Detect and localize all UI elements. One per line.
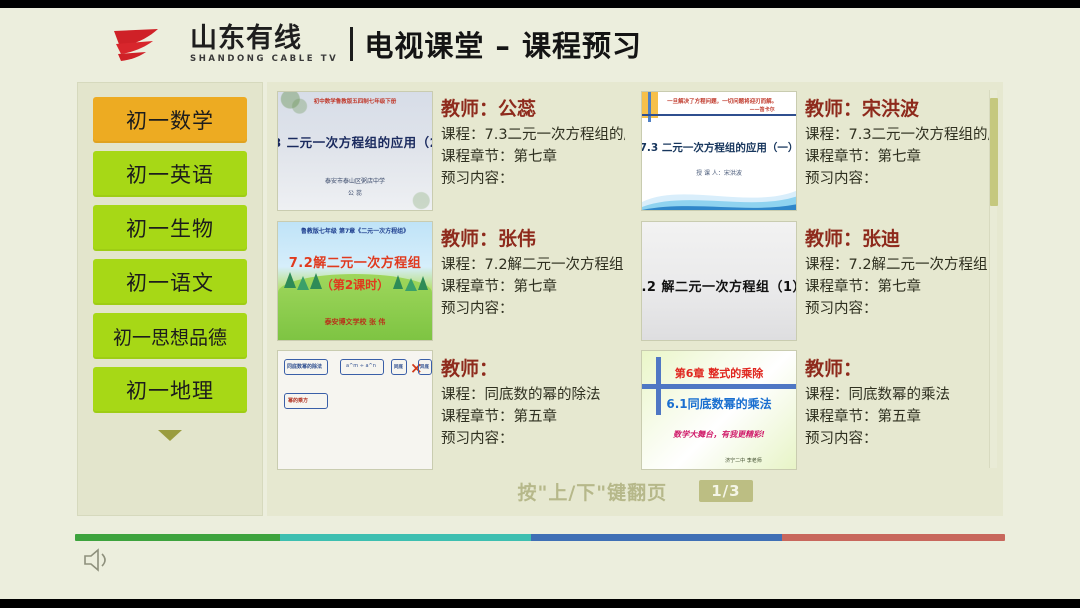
course-name: 课程：同底数的幂的除法 (441, 385, 625, 407)
thumb-decor-waves (642, 176, 796, 210)
course-chapter: 课程章节：第七章 (441, 147, 625, 169)
course-card[interactable]: 第6章 整式的乘除 6.1同底数幂的乘法 数学大舞台，有我更精彩! 济宁二中 李… (635, 346, 995, 474)
body-area: 初一数学 初一英语 初一生物 初一语文 初一思想品德 初一地理 (0, 80, 1080, 520)
course-teacher: 教师：宋洪波 (805, 94, 989, 121)
volume-button[interactable] (80, 545, 114, 575)
thumb-subtitle-2: 公 蕊 (348, 188, 362, 197)
colorbar-segment-blue (531, 534, 782, 541)
thumb-subtitle-1: 济宁二中 李老师 (725, 457, 762, 464)
colorbar-segment-teal (280, 534, 531, 541)
scrollbar-thumb[interactable] (990, 98, 998, 206)
sidebar-item-label: 初一地理 (126, 375, 214, 405)
thumb-slogan: 数学大舞台，有我更精彩! (673, 429, 765, 440)
sidebar-item-geography[interactable]: 初一地理 (93, 367, 247, 413)
course-list-panel: 初中数学鲁教版五四制七年级下册 7.3 二元一次方程组的应用（2） 泰安市泰山区… (267, 82, 1003, 516)
course-meta: 教师：公蕊 课程：7.3二元一次方程组的应 课程章节：第七章 预习内容： (433, 88, 631, 214)
course-meta: 教师：张迪 课程：7.2解二元一次方程组 课程章节：第七章 预习内容： (797, 218, 995, 344)
sidebar-item-english[interactable]: 初一英语 (93, 151, 247, 197)
sidebar-item-biology[interactable]: 初一生物 (93, 205, 247, 251)
sidebar-item-math[interactable]: 初一数学 (93, 97, 247, 143)
thumb-header-text: 鲁教版七年级 第7章《二元一次方程组》 (301, 226, 409, 235)
course-preview: 预习内容： (441, 299, 625, 321)
thumb-header-text: 一旦解决了方程问题，一切问题将迎刃而解。 (667, 97, 777, 105)
course-name: 课程：7.3二元一次方程组的应 (805, 125, 989, 147)
thumb-box-5-label: 幂的乘方 (288, 397, 308, 404)
sidebar-item-label: 初一数学 (126, 105, 214, 135)
colorbar-segment-green (75, 534, 280, 541)
course-chapter: 课程章节：第七章 (805, 147, 989, 169)
course-teacher: 教师：张伟 (441, 224, 625, 251)
cable-tv-logo-icon (112, 25, 182, 63)
course-thumbnail[interactable]: 一旦解决了方程问题，一切问题将迎刃而解。 ——笛卡尔 7.3 二元一次方程组的应… (641, 91, 797, 211)
course-preview: 预习内容： (441, 169, 625, 191)
course-preview: 预习内容： (805, 429, 989, 451)
brand-name-en: SHANDONG CABLE TV (190, 55, 338, 64)
thumb-decor-bar (648, 92, 651, 122)
thumb-subtitle-1: 泰安市泰山区粥店中学 (325, 176, 385, 185)
chevron-down-icon (157, 428, 183, 442)
sidebar-item-label: 初一思想品德 (113, 323, 227, 350)
brand-logo: 山东有线 SHANDONG CABLE TV (112, 25, 338, 64)
thumb-box-1-label: 同底数幂的除法 (287, 363, 322, 370)
course-thumbnail[interactable]: 7.2 解二元一次方程组（1） (641, 221, 797, 341)
page-title: 电视课堂 – 课程预习 (364, 23, 642, 65)
course-preview: 预习内容： (441, 429, 625, 451)
course-card[interactable]: 同底数幂的除法 a^m ÷ a^n 同底 × 异底 幂的乘方 教师： 课程：同底… (271, 346, 631, 474)
course-name: 课程：同底数幂的乘法 (805, 385, 989, 407)
tv-course-preview-screen: 山东有线 SHANDONG CABLE TV 电视课堂 – 课程预习 初一数学 … (0, 0, 1080, 608)
thumb-title: 7.2解二元一次方程组 (289, 252, 422, 271)
brand-name-cn: 山东有线 (190, 25, 338, 52)
speaker-icon (80, 545, 114, 575)
thumb-header-text-2: ——笛卡尔 (750, 106, 775, 113)
course-card[interactable]: 一旦解决了方程问题，一切问题将迎刃而解。 ——笛卡尔 7.3 二元一次方程组的应… (635, 86, 995, 216)
course-chapter: 课程章节：第五章 (441, 407, 625, 429)
letterbox-bottom (0, 599, 1080, 608)
thumb-decor-vline (656, 357, 661, 415)
course-teacher: 教师： (441, 354, 625, 381)
thumb-title: 7.3 二元一次方程组的应用（一） (641, 140, 797, 155)
course-preview: 预习内容： (805, 169, 989, 191)
colorbar-segment-red (782, 534, 1005, 541)
sidebar-item-label: 初一英语 (126, 159, 214, 189)
thumb-decor-rule (642, 114, 796, 116)
course-preview: 预习内容： (805, 299, 989, 321)
thumb-header-text: 初中数学鲁教版五四制七年级下册 (314, 97, 397, 105)
course-card[interactable]: 鲁教版七年级 第7章《二元一次方程组》 7.2解二元一次方程组 （第2课时） 泰… (271, 216, 631, 346)
course-meta: 教师：宋洪波 课程：7.3二元一次方程组的应 课程章节：第七章 预习内容： (797, 88, 995, 214)
sidebar-item-ethics[interactable]: 初一思想品德 (93, 313, 247, 359)
thumb-box-3-label: 同底 (394, 364, 403, 370)
pager: 按"上/下"键翻页 1/3 (267, 476, 1003, 506)
course-meta: 教师： 课程：同底数幂的乘法 课程章节：第五章 预习内容： (797, 348, 995, 472)
page-indicator: 1/3 (699, 480, 752, 502)
thumb-box-4-label: 异底 (420, 364, 429, 370)
page-header: 山东有线 SHANDONG CABLE TV 电视课堂 – 课程预习 (0, 8, 1080, 80)
sidebar-item-label: 初一生物 (126, 213, 214, 243)
course-thumbnail[interactable]: 第6章 整式的乘除 6.1同底数幂的乘法 数学大舞台，有我更精彩! 济宁二中 李… (641, 350, 797, 470)
course-name: 课程：7.2解二元一次方程组 (805, 255, 989, 277)
thumb-decor-hline (642, 384, 796, 389)
course-name: 课程：7.3二元一次方程组的应 (441, 125, 625, 147)
course-thumbnail[interactable]: 同底数幂的除法 a^m ÷ a^n 同底 × 异底 幂的乘方 (277, 350, 433, 470)
letterbox-top (0, 0, 1080, 8)
pager-hint: 按"上/下"键翻页 (517, 478, 667, 505)
thumb-title: 7.3 二元一次方程组的应用（2） (277, 132, 433, 151)
course-chapter: 课程章节：第七章 (805, 277, 989, 299)
thumb-decor-trees-right (392, 272, 428, 306)
course-card[interactable]: 初中数学鲁教版五四制七年级下册 7.3 二元一次方程组的应用（2） 泰安市泰山区… (271, 86, 631, 216)
course-list-scrollbar[interactable] (989, 90, 997, 468)
course-teacher: 教师：公蕊 (441, 94, 625, 121)
thumb-title-2: 6.1同底数幂的乘法 (666, 395, 771, 412)
course-name: 课程：7.2解二元一次方程组 (441, 255, 625, 277)
course-teacher: 教师：张迪 (805, 224, 989, 251)
course-thumbnail[interactable]: 鲁教版七年级 第7章《二元一次方程组》 7.2解二元一次方程组 （第2课时） 泰… (277, 221, 433, 341)
course-card[interactable]: 7.2 解二元一次方程组（1） 教师：张迪 课程：7.2解二元一次方程组 课程章… (635, 216, 995, 346)
course-meta: 教师： 课程：同底数的幂的除法 课程章节：第五章 预习内容： (433, 348, 631, 472)
sidebar-scroll-down-button[interactable] (93, 421, 247, 449)
thumb-title: 第6章 整式的乘除 (675, 365, 763, 381)
thumb-title-2: （第2课时） (321, 276, 389, 293)
thumb-title: 7.2 解二元一次方程组（1） (641, 276, 797, 295)
course-grid: 初中数学鲁教版五四制七年级下册 7.3 二元一次方程组的应用（2） 泰安市泰山区… (271, 86, 995, 474)
thumb-decor-trees (283, 270, 323, 308)
sidebar-item-label: 初一语文 (126, 267, 214, 297)
course-chapter: 课程章节：第七章 (441, 277, 625, 299)
color-progress-bar (75, 534, 1005, 541)
thumb-subtitle-1: 泰安博文学校 张 伟 (325, 317, 386, 327)
header-divider (350, 27, 353, 61)
course-meta: 教师：张伟 课程：7.2解二元一次方程组 课程章节：第七章 预习内容： (433, 218, 631, 344)
course-thumbnail[interactable]: 初中数学鲁教版五四制七年级下册 7.3 二元一次方程组的应用（2） 泰安市泰山区… (277, 91, 433, 211)
course-chapter: 课程章节：第五章 (805, 407, 989, 429)
subject-sidebar: 初一数学 初一英语 初一生物 初一语文 初一思想品德 初一地理 (77, 82, 263, 516)
thumb-box-2-label: a^m ÷ a^n (346, 363, 376, 369)
sidebar-item-chinese[interactable]: 初一语文 (93, 259, 247, 305)
course-teacher: 教师： (805, 354, 989, 381)
